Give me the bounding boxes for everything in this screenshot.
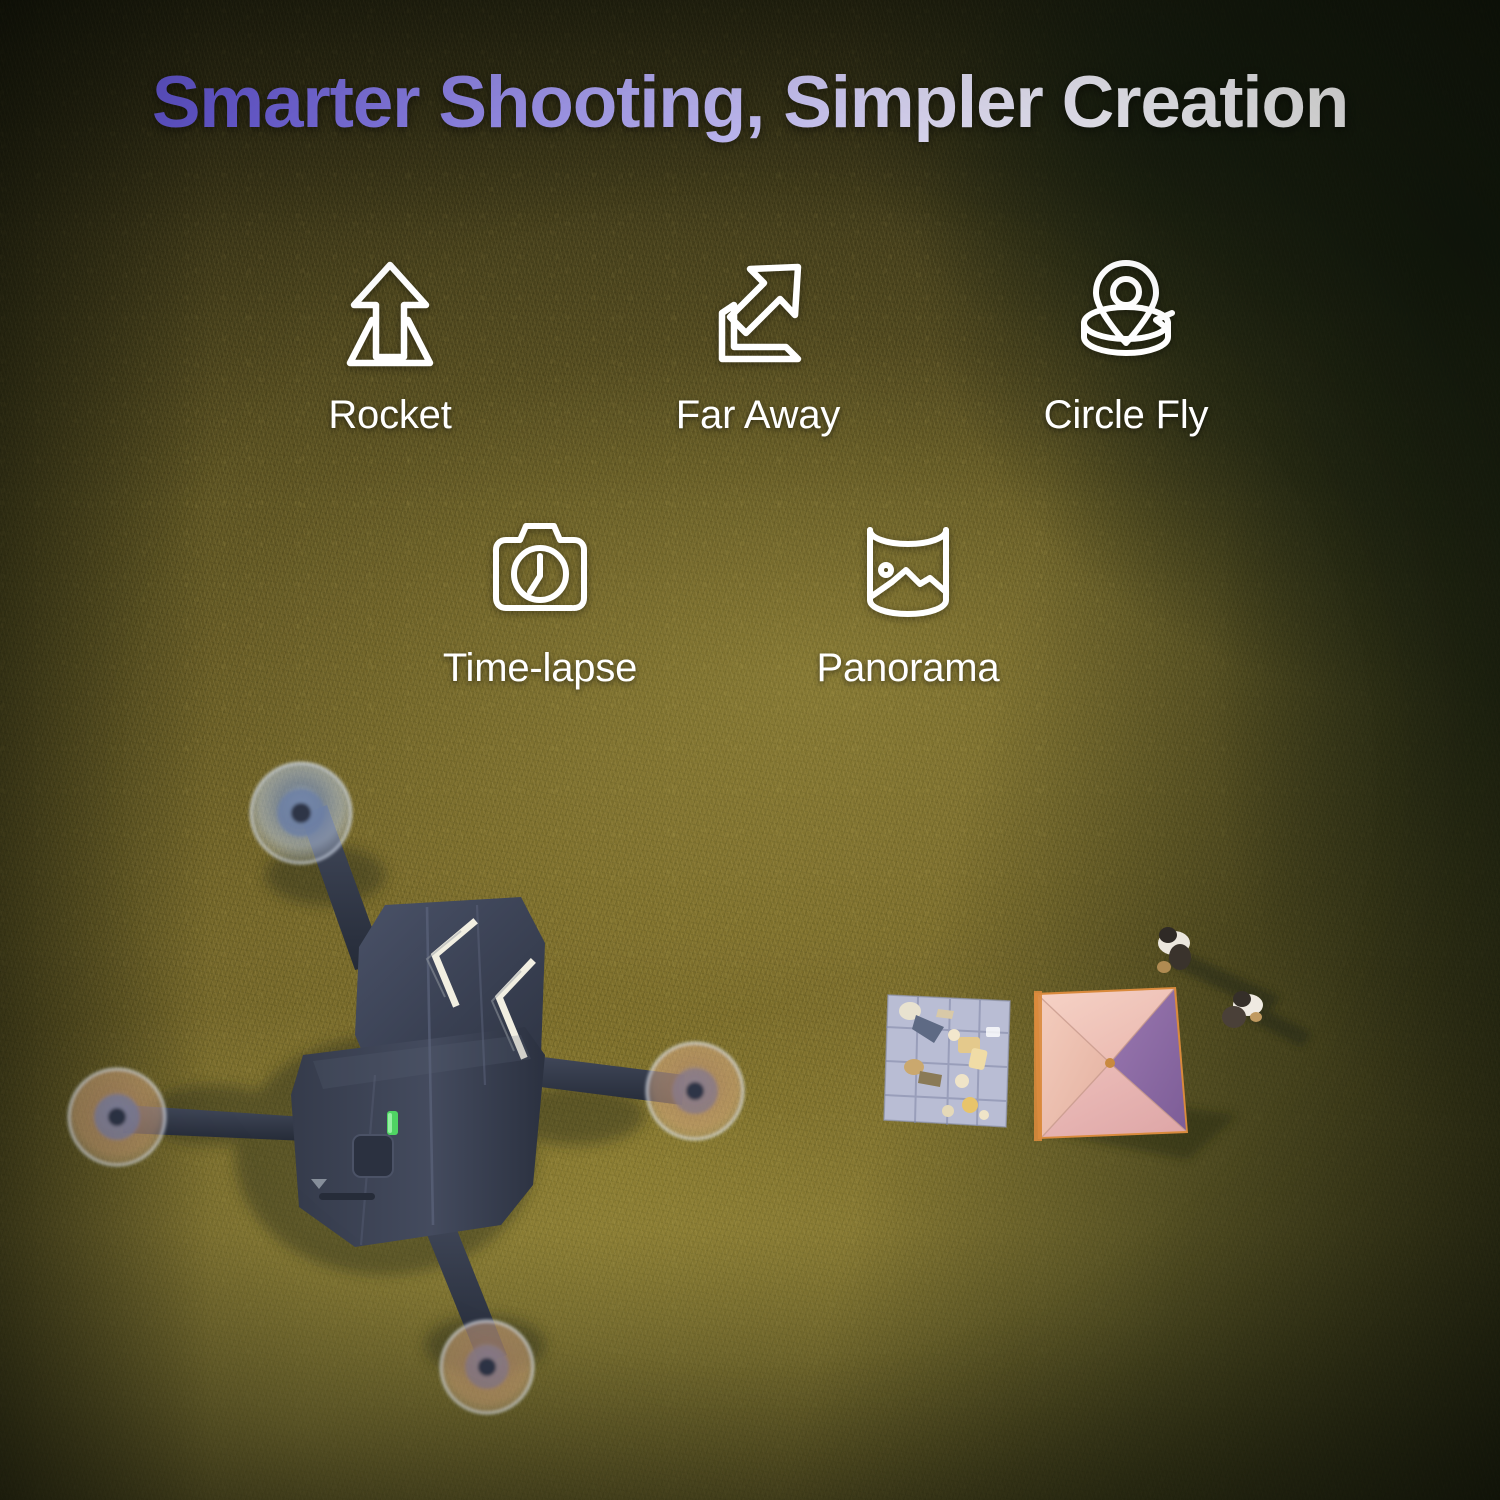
panorama-icon	[844, 508, 972, 628]
banner-stage: Smarter Shooting, Simpler Creation Rocke…	[0, 0, 1500, 1500]
picnic-blanket	[884, 995, 1010, 1127]
drone-product-image	[55, 755, 765, 1425]
feature-label: Circle Fly	[1044, 393, 1209, 438]
animals-group	[1130, 905, 1330, 1065]
feature-label: Rocket	[328, 393, 451, 438]
time-lapse-camera-icon	[476, 508, 604, 628]
feature-grid: Rocket Far Away	[206, 255, 1310, 691]
animal-1	[1157, 927, 1191, 973]
feature-row-2: Time-lapse Panorama	[206, 508, 1310, 691]
feature-row-1: Rocket Far Away	[206, 255, 1310, 438]
feature-label: Far Away	[676, 393, 840, 438]
circle-fly-pin-icon	[1062, 255, 1190, 375]
feature-label: Panorama	[817, 646, 1000, 691]
feature-circle-fly[interactable]: Circle Fly	[942, 255, 1310, 438]
far-away-arrow-icon	[694, 255, 822, 375]
feature-rocket[interactable]: Rocket	[206, 255, 574, 438]
page-title: Smarter Shooting, Simpler Creation	[0, 64, 1500, 143]
feature-time-lapse[interactable]: Time-lapse	[356, 508, 724, 691]
feature-far-away[interactable]: Far Away	[574, 255, 942, 438]
feature-panorama[interactable]: Panorama	[724, 508, 1092, 691]
rocket-icon	[326, 255, 454, 375]
feature-label: Time-lapse	[443, 646, 637, 691]
